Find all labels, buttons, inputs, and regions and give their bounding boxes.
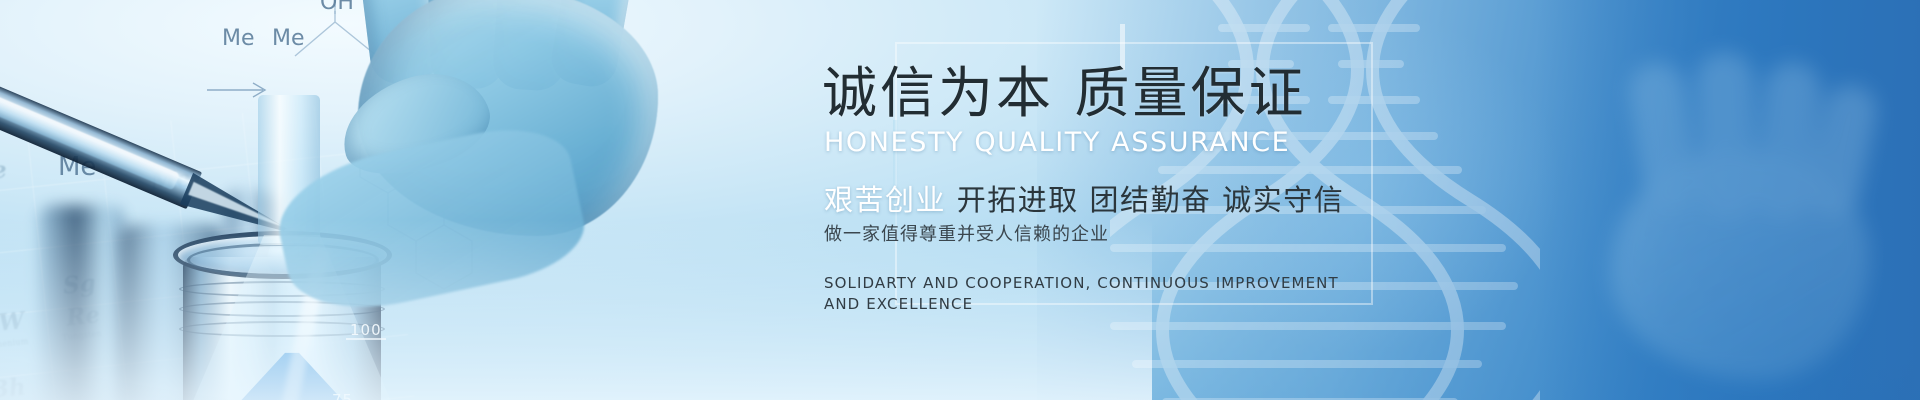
- slogan-part-2: 开拓进取: [957, 183, 1079, 217]
- slogan-part-1: 艰苦创业: [824, 183, 946, 217]
- hero-banner: Me 75 Me Sg 74 W Re Rhenium Tungsten Bh …: [0, 0, 1920, 400]
- headline-en: HONESTY QUALITY ASSURANCE: [824, 128, 1522, 158]
- tagline-en: SOLIDARTY AND COOPERATION, CONTINUOUS IM…: [824, 273, 1344, 314]
- headline-cn: 诚信为本 质量保证: [822, 64, 1522, 122]
- subline-cn: 做一家值得尊重并受人信赖的企业: [824, 224, 1522, 246]
- slogan-part-4: 诚实守信: [1222, 183, 1344, 217]
- tagline-line-1: SOLIDARTY AND COOPERATION, CONTINUOUS IM…: [824, 273, 1344, 294]
- tagline-line-2: AND EXCELLENCE: [824, 294, 1344, 315]
- slogan-cn: 艰苦创业 开拓进取 团结勤奋 诚实守信: [824, 184, 1522, 217]
- slogan-part-3: 团结勤奋: [1089, 183, 1211, 217]
- banner-copy: 诚信为本 质量保证 HONESTY QUALITY ASSURANCE 艰苦创业…: [822, 64, 1522, 314]
